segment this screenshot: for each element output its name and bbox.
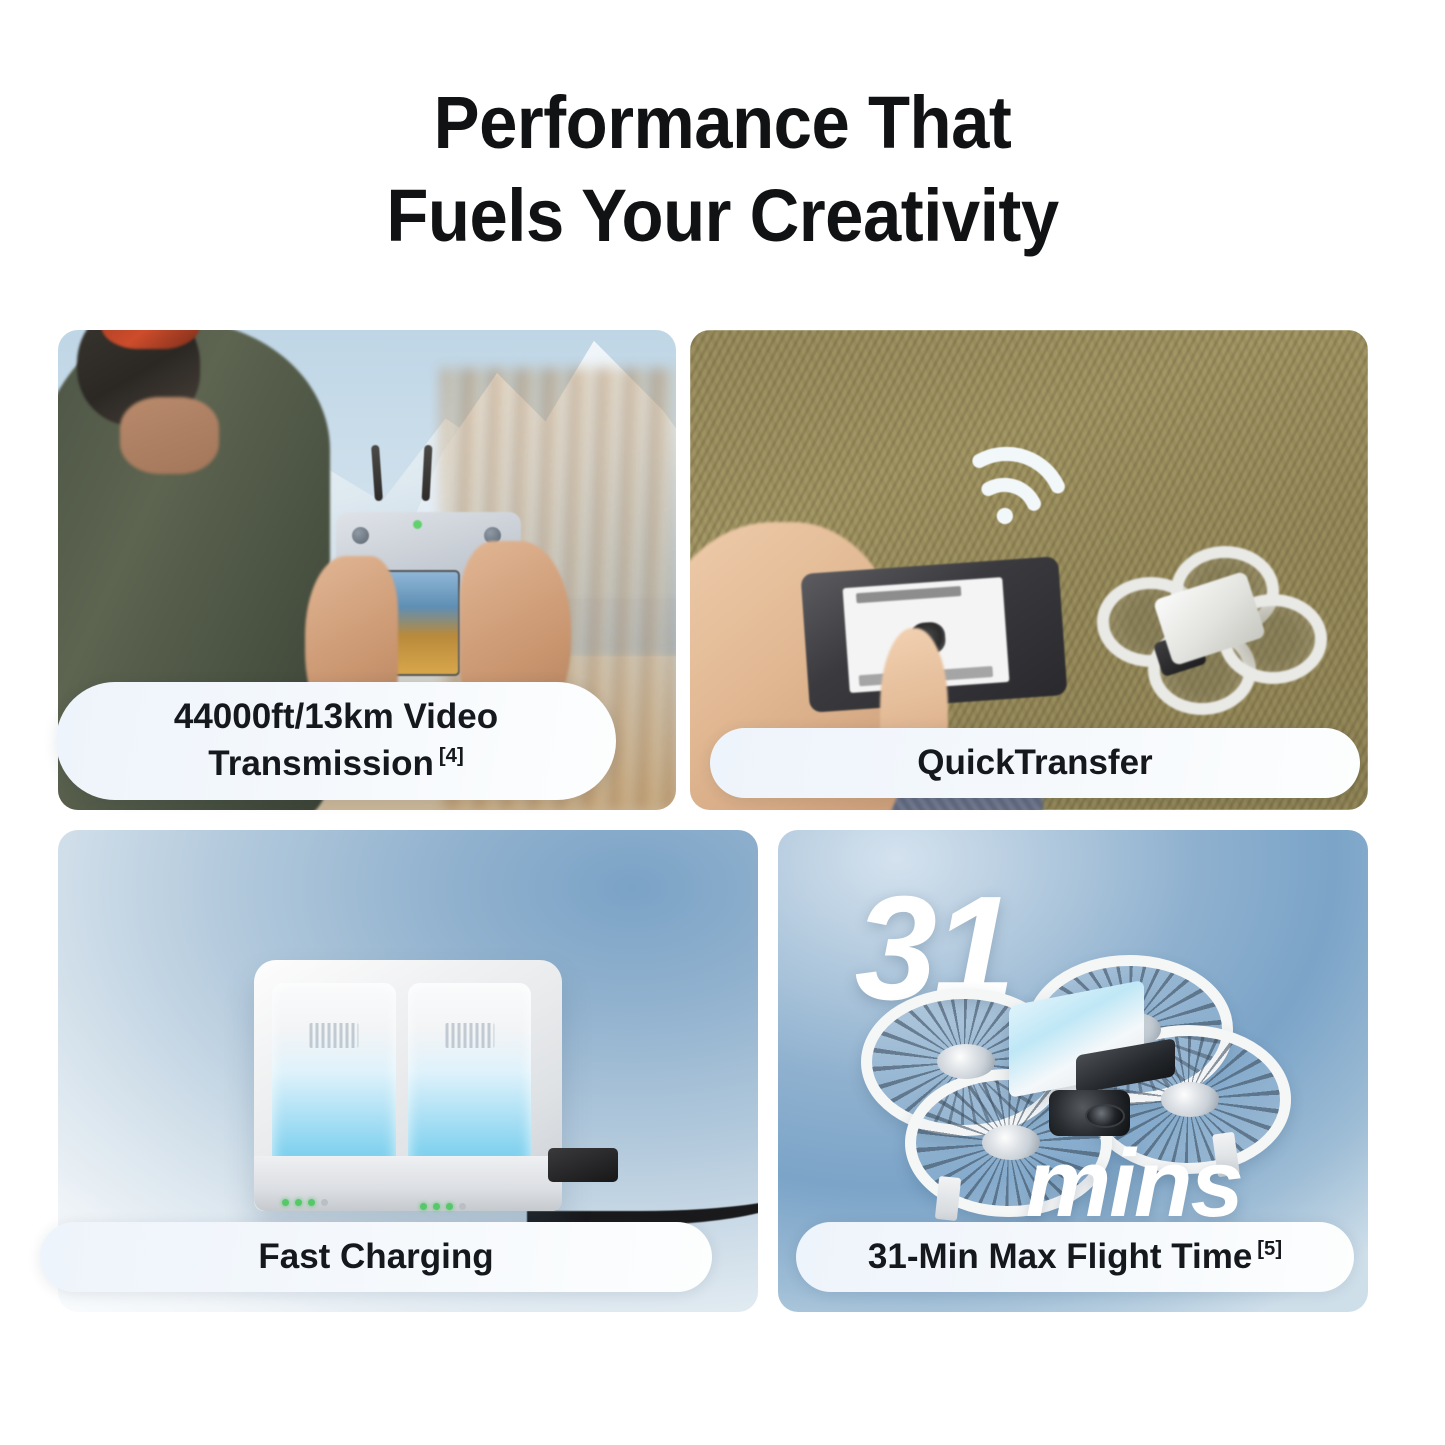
led-indicator-icon — [446, 1203, 453, 1210]
hub-base-shape — [254, 1156, 562, 1211]
dji-logo — [309, 1023, 358, 1047]
led-indicator-group — [420, 1203, 466, 1210]
app-title-bar — [856, 586, 962, 603]
control-stick-icon — [352, 527, 369, 544]
led-indicator-icon — [308, 1199, 315, 1206]
landing-leg-shape — [935, 1176, 962, 1221]
led-indicator-icon — [433, 1203, 440, 1210]
caption-pill-quick-transfer[interactable]: QuickTransfer — [710, 728, 1360, 798]
usb-c-plug-icon — [548, 1148, 618, 1182]
dji-logo — [445, 1023, 494, 1047]
caption-text: Fast Charging — [258, 1234, 493, 1281]
drone-icon — [1097, 546, 1328, 719]
led-indicator-icon — [295, 1199, 302, 1206]
caption-pill-max-flight-time[interactable]: 31-Min Max Flight Time[5] — [796, 1222, 1354, 1292]
battery-icon — [408, 983, 531, 1168]
camera-lens-icon — [1085, 1104, 1125, 1128]
led-indicator-group — [282, 1199, 328, 1206]
infographic-page: Performance That Fuels Your Creativity — [0, 0, 1445, 1445]
status-led-icon — [413, 520, 422, 529]
caption-line-1: 44000ft/13km Video — [174, 694, 498, 741]
battery-icon — [272, 983, 395, 1168]
charging-hub-icon — [254, 960, 562, 1211]
led-indicator-icon — [420, 1203, 427, 1210]
antenna-icon — [371, 445, 383, 501]
footnote-marker: [4] — [439, 745, 464, 767]
feature-card-grid: 44000ft/13km Video Transmission[4] — [0, 0, 1445, 1445]
led-indicator-icon — [282, 1199, 289, 1206]
led-indicator-icon — [321, 1199, 328, 1206]
led-indicator-icon — [459, 1203, 466, 1210]
footnote-marker: [5] — [1257, 1238, 1282, 1260]
pilot-neck-shape — [120, 397, 219, 474]
caption-pill-fast-charging[interactable]: Fast Charging — [40, 1222, 712, 1292]
caption-text: 31-Min Max Flight Time[5] — [868, 1234, 1282, 1281]
caption-pill-video-transmission[interactable]: 44000ft/13km Video Transmission[4] — [56, 682, 616, 800]
caption-line-2: Transmission[4] — [174, 741, 498, 788]
caption-text: QuickTransfer — [917, 740, 1152, 787]
wifi-icon — [949, 421, 1082, 546]
